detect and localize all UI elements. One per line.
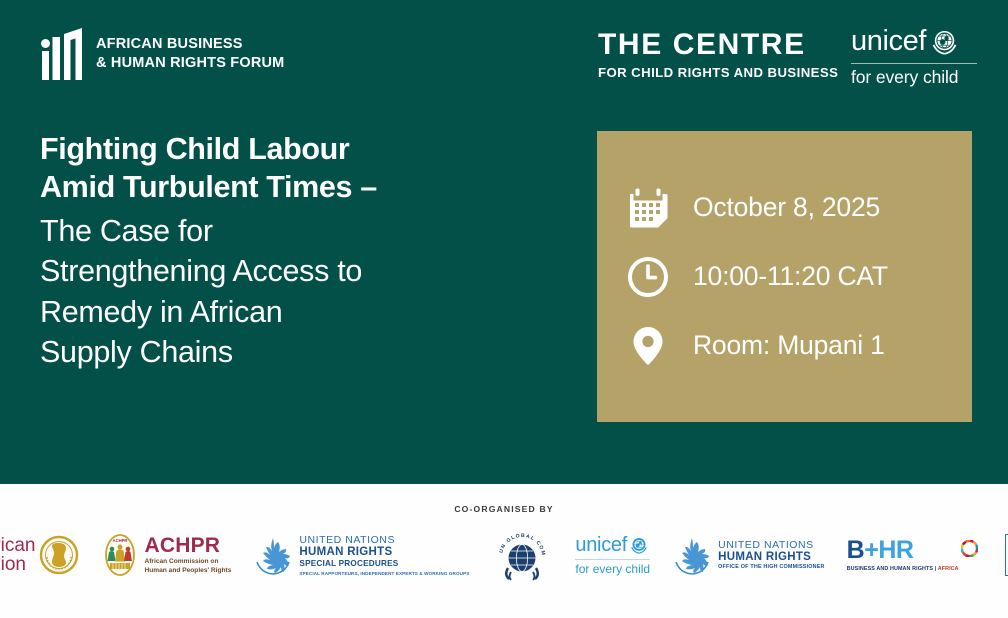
building-people-icon xyxy=(40,28,86,80)
logo-achpr: ACHPR ACHPR African Comm xyxy=(101,533,231,577)
un-sp-line4: SPECIAL RAPPORTEURS, INDEPENDENT EXPERTS… xyxy=(299,571,469,576)
un-ohchr-line2: HUMAN RIGHTS xyxy=(718,551,825,564)
bhr-plus: + xyxy=(864,536,878,564)
event-title-primary: Fighting Child Labour Amid Turbulent Tim… xyxy=(40,131,540,207)
event-title-secondary: The Case for Strengthening Access to Rem… xyxy=(40,211,540,373)
un-sp-line1: UNITED NATIONS xyxy=(299,534,469,546)
unicef-divider xyxy=(851,63,977,64)
event-location: Room: Mupani 1 xyxy=(693,330,885,361)
au-line1: African xyxy=(0,536,35,555)
logo-un-global-compact: UN GLOBAL COMPACT xyxy=(491,528,553,582)
hero-section: AFRICAN BUSINESS & HUMAN RIGHTS FORUM TH… xyxy=(0,0,1008,484)
event-time-row: 10:00-11:20 CAT xyxy=(627,256,972,298)
un-human-rights-emblem-icon xyxy=(253,535,293,575)
unicef-footer-wordmark: unicef xyxy=(575,535,627,555)
map-pin-icon xyxy=(627,325,669,367)
event-banner: AFRICAN BUSINESS & HUMAN RIGHTS FORUM TH… xyxy=(0,0,1008,618)
unicef-tagline: for every child xyxy=(851,69,977,87)
event-date-row: October 8, 2025 xyxy=(627,187,972,229)
un-ohchr-line1: UNITED NATIONS xyxy=(718,539,825,551)
partner-logo-strip: African Union ACHPR xyxy=(0,528,1008,582)
title-block: Fighting Child Labour Amid Turbulent Tim… xyxy=(40,131,540,373)
forum-logo: AFRICAN BUSINESS & HUMAN RIGHTS FORUM xyxy=(40,28,284,80)
achpr-sub: African Commission on Human and Peoples'… xyxy=(144,558,231,575)
un-ohchr-line3: OFFICE OF THE HIGH COMMISSIONER xyxy=(718,564,825,570)
co-organised-label: CO-ORGANISED BY xyxy=(0,504,1008,514)
achpr-main: ACHPR xyxy=(144,535,231,556)
unicef-logo-header: unicef for every child xyxy=(851,27,977,87)
event-time: 10:00-11:20 CAT xyxy=(693,261,888,292)
centre-logo: THE CENTRE FOR CHILD RIGHTS AND BUSINESS xyxy=(598,30,838,80)
bhr-b: B xyxy=(847,536,865,564)
forum-logo-text: AFRICAN BUSINESS & HUMAN RIGHTS FORUM xyxy=(96,35,284,72)
logo-undp: U N D P xyxy=(1000,534,1008,576)
unicef-footer-emblem-icon xyxy=(630,536,648,554)
clock-icon xyxy=(627,256,669,298)
un-ohchr-emblem-icon xyxy=(672,535,712,575)
logo-un-special-procedures: UNITED NATIONS HUMAN RIGHTS SPECIAL PROC… xyxy=(253,534,469,576)
logo-bhr-africa: B+HR BUSINESS AND HUMAN RIGHTS | AFRICA xyxy=(847,538,978,572)
un-global-compact-icon: UN GLOBAL COMPACT xyxy=(491,528,553,582)
bhr-sub-africa: AFRICA xyxy=(938,566,959,572)
logo-un-ohchr: UNITED NATIONS HUMAN RIGHTS OFFICE OF TH… xyxy=(672,535,825,575)
bhr-sub: BUSINESS AND HUMAN RIGHTS | xyxy=(847,566,938,572)
event-date: October 8, 2025 xyxy=(693,192,880,223)
sdg-wheel-icon xyxy=(961,540,978,557)
unicef-wordmark: unicef xyxy=(851,27,926,56)
logo-unicef-footer: unicef xyxy=(575,535,650,575)
unicef-footer-tagline: for every child xyxy=(575,563,650,575)
unicef-emblem-icon xyxy=(931,28,958,55)
un-sp-line2: HUMAN RIGHTS xyxy=(299,546,469,559)
event-details-panel: October 8, 2025 10:00-11:20 CAT Room: Mu… xyxy=(597,131,972,422)
achpr-emblem-icon: ACHPR xyxy=(101,533,139,577)
unicef-footer-divider xyxy=(575,559,650,560)
calendar-icon xyxy=(627,187,669,229)
logo-african-union: African Union xyxy=(0,535,79,575)
svg-text:ACHPR: ACHPR xyxy=(113,538,128,543)
centre-logo-sub: FOR CHILD RIGHTS AND BUSINESS xyxy=(598,65,838,80)
african-union-emblem-icon xyxy=(39,535,79,575)
un-sp-line3: SPECIAL PROCEDURES xyxy=(299,559,469,569)
footer-section: CO-ORGANISED BY African Union xyxy=(0,484,1008,618)
au-line2: Union xyxy=(0,555,35,574)
bhr-hr: HR xyxy=(878,536,913,564)
event-location-row: Room: Mupani 1 xyxy=(627,325,972,367)
centre-logo-main: THE CENTRE xyxy=(598,30,838,60)
